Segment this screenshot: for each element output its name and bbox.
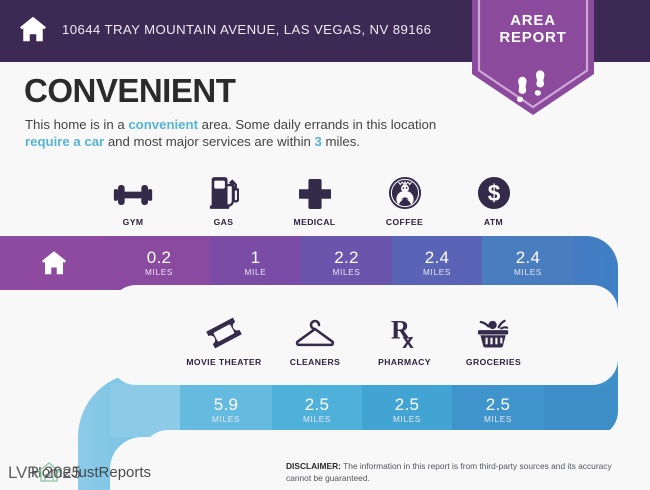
- category-pharmacy[interactable]: R x PHARMACY: [360, 312, 449, 367]
- category-label: ATM: [484, 217, 503, 227]
- distance-unit: MILES: [393, 414, 421, 425]
- header-address-group: 10644 TRAY MOUNTAIN AVENUE, LAS VEGAS, N…: [18, 14, 431, 44]
- summary-text: This home is in a convenient area. Some …: [25, 116, 445, 150]
- category-groceries[interactable]: GROCERIES: [449, 312, 538, 367]
- distance-unit: MILES: [423, 267, 451, 278]
- distance-unit: MILES: [303, 414, 331, 425]
- distance-cell-movie-theater: 5.9 MILES: [180, 383, 272, 437]
- distance-value: 2.4: [516, 248, 541, 267]
- category-label: GROCERIES: [466, 357, 521, 367]
- dumbbell-icon: [113, 172, 153, 210]
- category-movie-theater[interactable]: MOVIE THEATER: [178, 312, 270, 367]
- distance-cell-pharmacy: 2.5 MILES: [362, 383, 452, 437]
- category-label: MEDICAL: [294, 217, 336, 227]
- category-label: PHARMACY: [378, 357, 431, 367]
- coat-hanger-icon: [295, 312, 335, 350]
- summary-highlight-convenient: convenient: [128, 117, 198, 132]
- movie-ticket-icon: [205, 312, 243, 350]
- distance-unit: MILES: [212, 414, 240, 425]
- category-medical[interactable]: MEDICAL: [269, 172, 360, 227]
- area-report-page: 0.2 MILES 1 MILE 2.2 MILES 2.4 MILES 2.4…: [0, 0, 650, 490]
- category-atm[interactable]: $ ATM: [449, 172, 538, 227]
- watermark: HomeJustReports LVR 2025: [8, 459, 168, 487]
- category-coffee[interactable]: COFFEE: [360, 172, 449, 227]
- category-label: GAS: [214, 217, 234, 227]
- home-icon: [18, 14, 48, 44]
- watermark-year: LVR 2025: [8, 463, 81, 483]
- distance-value: 2.2: [334, 248, 359, 267]
- distance-cell-medical: 2.2 MILES: [301, 236, 392, 290]
- grocery-basket-icon: [475, 312, 513, 350]
- distance-value: 0.2: [147, 248, 172, 267]
- distance-cell-coffee: 2.4 MILES: [392, 236, 482, 290]
- category-label: MOVIE THEATER: [186, 357, 261, 367]
- dollar-circle-icon: $: [477, 172, 511, 210]
- category-label: COFFEE: [386, 217, 423, 227]
- category-label: GYM: [123, 217, 144, 227]
- band2-leading-cap: [110, 383, 180, 437]
- distance-unit: MILES: [484, 414, 512, 425]
- distance-value: 2.5: [305, 395, 330, 414]
- summary-highlight-miles: 3: [315, 134, 322, 149]
- distance-value: 5.9: [214, 395, 239, 414]
- distance-value: 2.5: [486, 395, 511, 414]
- distance-value: 2.5: [395, 395, 420, 414]
- gas-pump-icon: [209, 172, 239, 210]
- summary-part-3: and most major services are within: [104, 134, 314, 149]
- area-report-badge: AREA REPORT: [472, 0, 594, 118]
- distance-cell-groceries: 2.5 MILES: [452, 383, 544, 437]
- distance-value: 1: [251, 248, 261, 267]
- summary-highlight-require-a-car: require a car: [25, 134, 104, 149]
- category-icon-row-1: GYM GAS MEDICAL: [88, 172, 538, 227]
- distance-cell-atm: 2.4 MILES: [482, 236, 574, 290]
- category-gas[interactable]: GAS: [178, 172, 269, 227]
- distance-unit: MILES: [514, 267, 542, 278]
- page-title: CONVENIENT: [24, 72, 235, 110]
- medical-cross-icon: [299, 172, 331, 210]
- distance-unit: MILES: [332, 267, 360, 278]
- distance-cell-gym: 0.2 MILES: [108, 236, 210, 290]
- summary-part-2: area. Some daily errands in this locatio…: [198, 117, 436, 132]
- svg-text:$: $: [487, 180, 500, 206]
- coffee-siren-icon: [388, 172, 422, 210]
- distance-band-row-1: 0.2 MILES 1 MILE 2.2 MILES 2.4 MILES 2.4…: [0, 236, 618, 290]
- category-cleaners[interactable]: CLEANERS: [270, 312, 360, 367]
- summary-part-4: miles.: [322, 134, 360, 149]
- property-address: 10644 TRAY MOUNTAIN AVENUE, LAS VEGAS, N…: [62, 22, 431, 37]
- disclaimer: DISCLAIMER: The information in this repo…: [286, 461, 636, 484]
- category-label: CLEANERS: [290, 357, 340, 367]
- disclaimer-label: DISCLAIMER:: [286, 461, 341, 471]
- distance-value: 2.4: [425, 248, 450, 267]
- distance-cell-gas: 1 MILE: [210, 236, 301, 290]
- svg-text:x: x: [402, 330, 414, 350]
- summary-part-1: This home is in a: [25, 117, 128, 132]
- distance-cell-cleaners: 2.5 MILES: [272, 383, 362, 437]
- distance-unit: MILES: [145, 267, 173, 278]
- band2-trailing-cap: [544, 383, 618, 437]
- home-icon: [39, 248, 69, 278]
- distance-unit: MILE: [245, 267, 267, 278]
- category-icon-row-2: MOVIE THEATER CLEANERS R x PHARMACY: [178, 312, 538, 367]
- home-marker-cell: [0, 236, 108, 290]
- category-gym[interactable]: GYM: [88, 172, 178, 227]
- distance-band-row-2: 5.9 MILES 2.5 MILES 2.5 MILES 2.5 MILES: [110, 383, 618, 437]
- rx-icon: R x: [390, 312, 420, 350]
